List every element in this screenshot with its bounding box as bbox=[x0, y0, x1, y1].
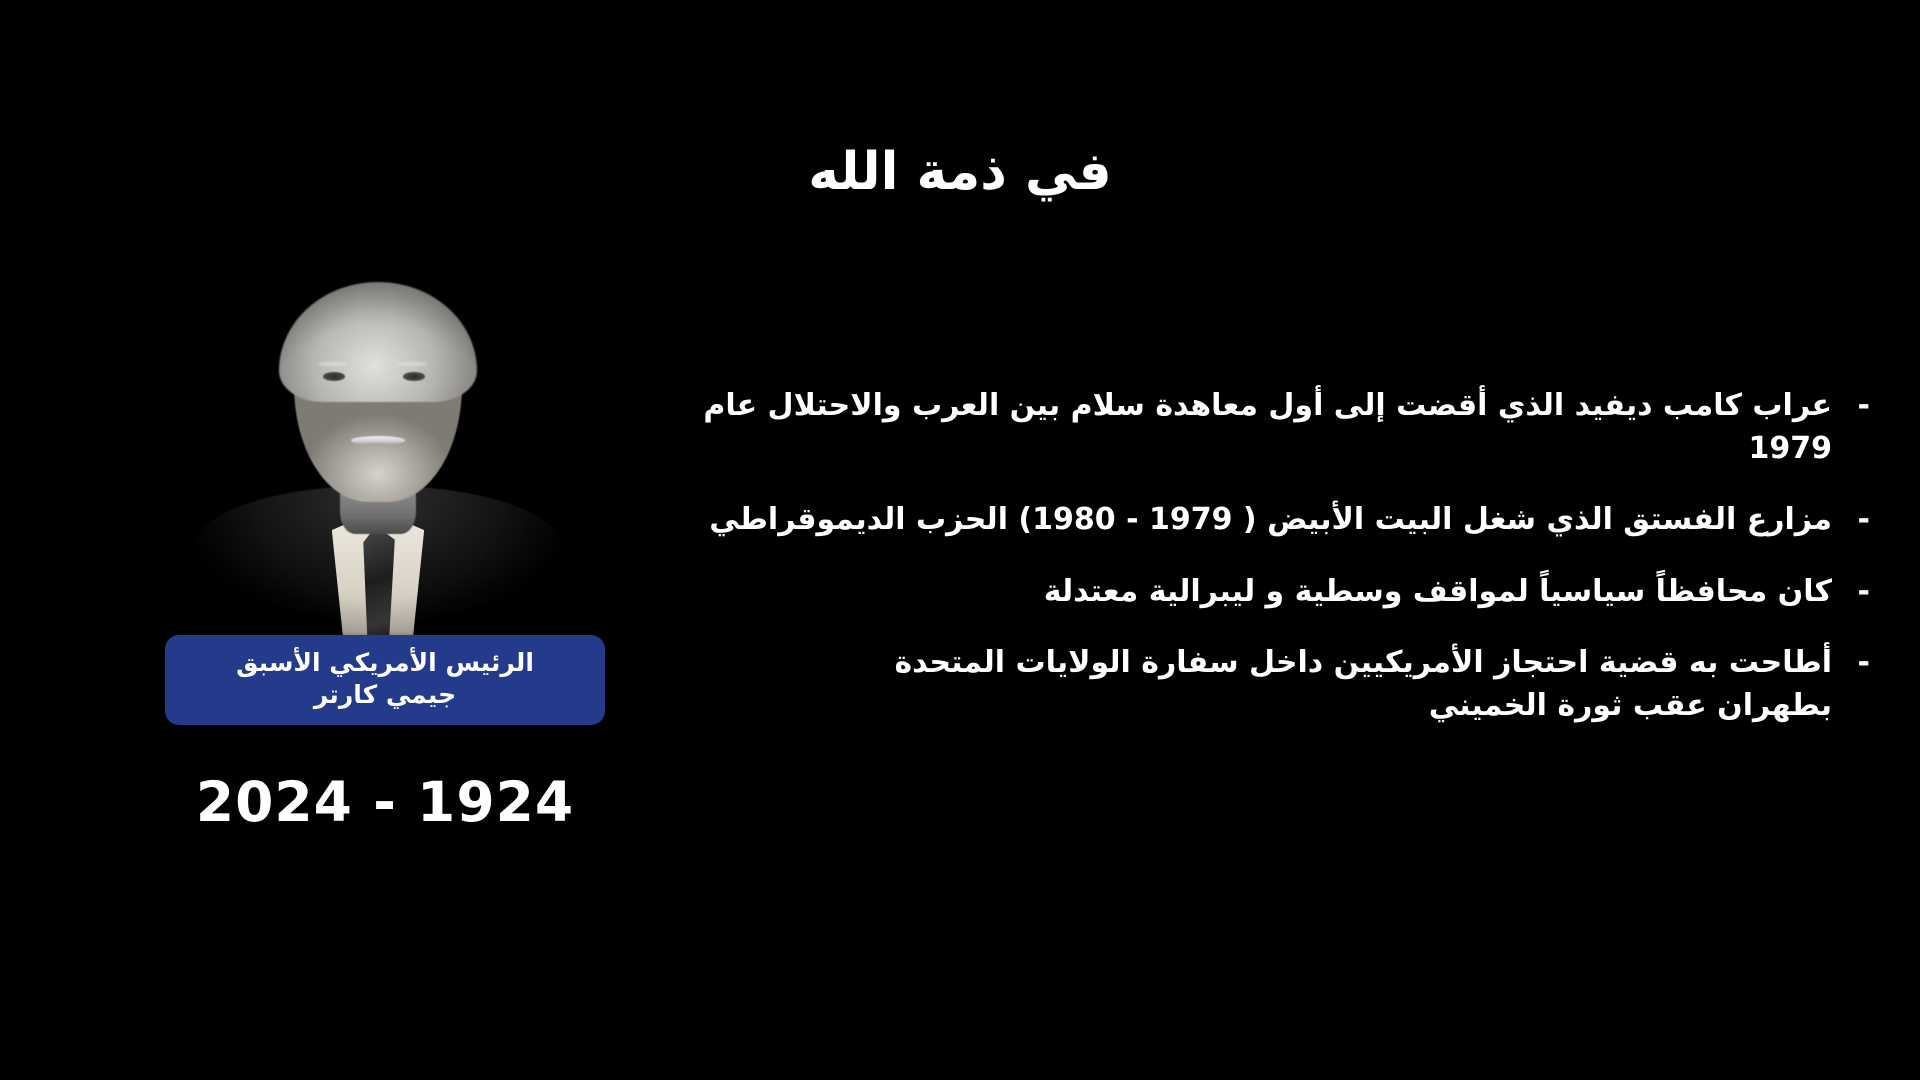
list-item: - مزارع الفستق الذي شغل البيت الأبيض ( 1… bbox=[650, 499, 1870, 542]
subject-panel: الرئيس الأمريكي الأسبق جيمي كارتر 2024 -… bbox=[150, 270, 620, 850]
bullet-text: عراب كامب ديفيد الذي أقضت إلى أول معاهدة… bbox=[650, 385, 1832, 470]
lifespan-years: 2024 - 1924 bbox=[150, 770, 620, 834]
badge-role-label: الرئيس الأمريكي الأسبق bbox=[175, 647, 595, 679]
bullet-text: كان محافظاً سياسياً لمواقف وسطية و ليبرا… bbox=[650, 571, 1832, 614]
page-title: في ذمة الله bbox=[0, 143, 1920, 203]
bullet-text: مزارع الفستق الذي شغل البيت الأبيض ( 197… bbox=[650, 499, 1832, 542]
portrait-hair bbox=[279, 282, 476, 402]
list-item: - أطاحت به قضية احتجاز الأمريكيين داخل س… bbox=[650, 642, 1870, 727]
bullet-marker-icon: - bbox=[1832, 499, 1870, 542]
portrait-eye-left bbox=[323, 372, 345, 381]
bullet-list: - عراب كامب ديفيد الذي أقضت إلى أول معاه… bbox=[650, 385, 1870, 757]
portrait-photo bbox=[168, 270, 588, 670]
subject-badge: الرئيس الأمريكي الأسبق جيمي كارتر bbox=[165, 635, 605, 725]
bullet-text: أطاحت به قضية احتجاز الأمريكيين داخل سفا… bbox=[650, 642, 1832, 727]
bullet-marker-icon: - bbox=[1832, 642, 1870, 685]
portrait-mouth bbox=[351, 436, 406, 445]
bullet-marker-icon: - bbox=[1832, 385, 1870, 428]
list-item: - عراب كامب ديفيد الذي أقضت إلى أول معاه… bbox=[650, 385, 1870, 470]
memorial-slide: في ذمة الله الرئيس الأمريكي الأسبق جيمي … bbox=[0, 0, 1920, 1080]
badge-name-label: جيمي كارتر bbox=[175, 679, 595, 711]
list-item: - كان محافظاً سياسياً لمواقف وسطية و ليب… bbox=[650, 571, 1870, 614]
portrait-eye-right bbox=[403, 372, 425, 381]
portrait-image bbox=[168, 270, 588, 670]
bullet-marker-icon: - bbox=[1832, 571, 1870, 614]
